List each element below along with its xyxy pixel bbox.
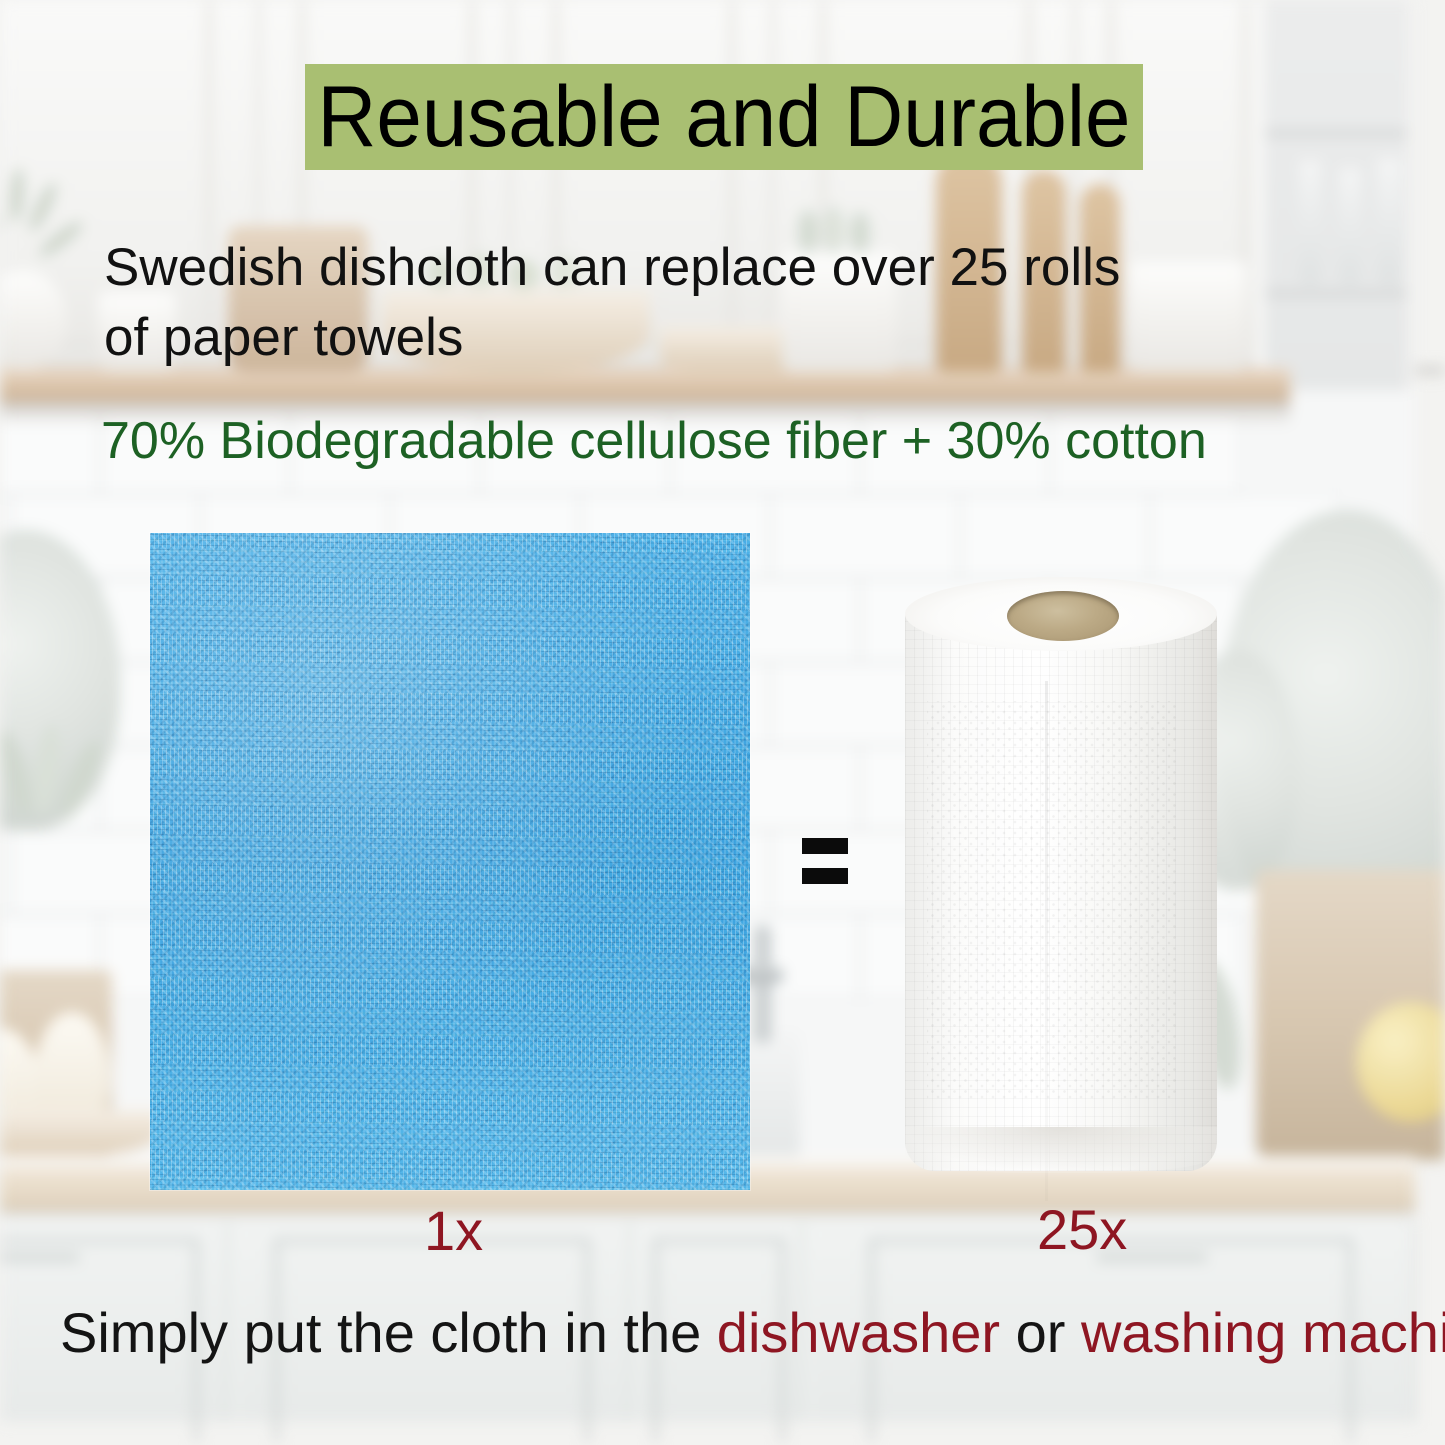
page-title: Reusable and Durable [317,74,1130,160]
title-banner: Reusable and Durable [305,64,1143,170]
care-accent-washing-machine: washing machine [1081,1301,1445,1364]
roll-seam [1045,681,1048,1201]
product-infographic: Reusable and Durable Swedish dishcloth c… [0,0,1445,1445]
roll-emboss-texture [927,701,1177,1101]
paper-towel-roll-image [905,577,1217,1190]
roll-body [905,611,1217,1171]
care-instruction-text: Simply put the cloth in the dishwasher o… [60,1302,1400,1364]
dishcloth-waffle-texture [150,533,750,1190]
description-text: Swedish dishcloth can replace over 25 ro… [104,233,1164,373]
swedish-dishcloth-image [150,533,750,1190]
care-middle: or [1000,1301,1081,1364]
description-line-2: of paper towels [104,303,1164,373]
roll-quantity-label: 25x [1037,1202,1127,1258]
equals-sign-icon [802,838,848,884]
description-line-1: Swedish dishcloth can replace over 25 ro… [104,233,1164,303]
care-accent-dishwasher: dishwasher [717,1301,1000,1364]
roll-cardboard-core [1007,591,1119,641]
roll-bottom-shadow [905,1127,1217,1173]
material-composition-text: 70% Biodegradable cellulose fiber + 30% … [101,410,1321,472]
cloth-quantity-label: 1x [424,1203,483,1259]
care-prefix: Simply put the cloth in the [60,1301,717,1364]
